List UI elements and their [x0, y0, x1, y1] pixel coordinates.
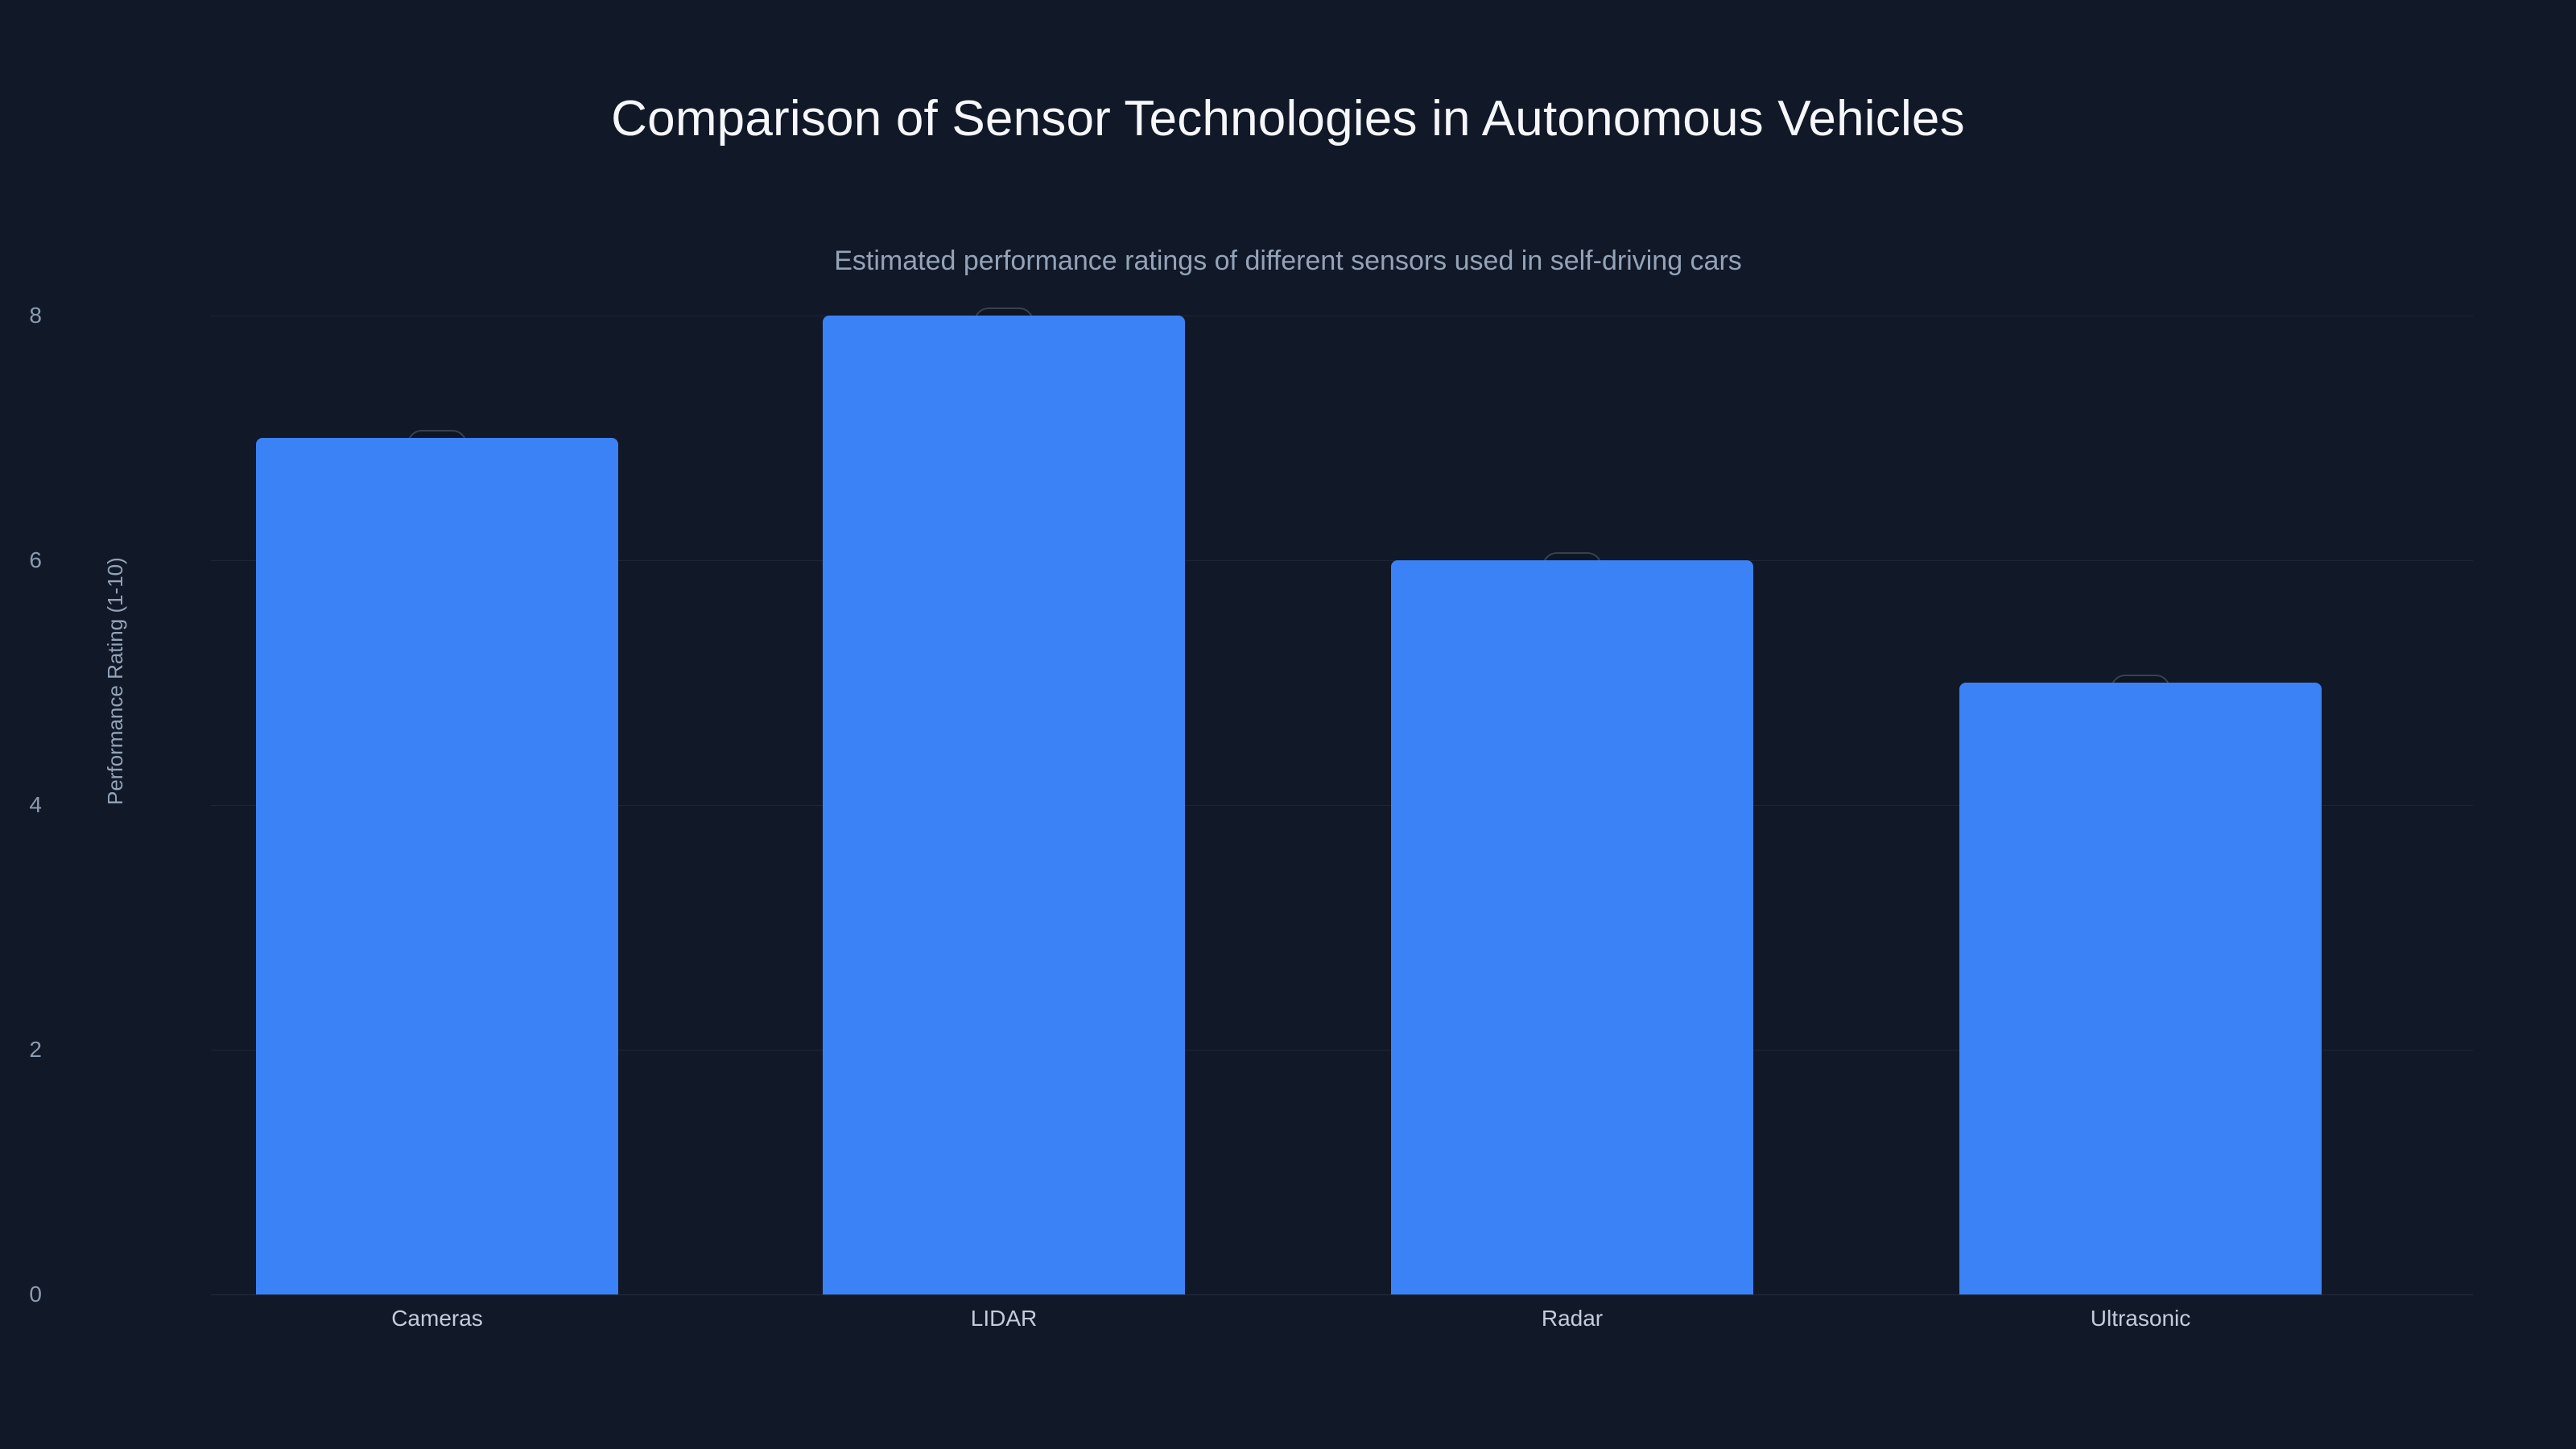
bar-rect-cameras[interactable]	[256, 438, 618, 1294]
y-axis-title: Performance Rating (1-10)	[103, 557, 128, 805]
y-tick-label-6: 6	[0, 547, 42, 573]
bar-group-cameras[interactable]: 7 Cameras	[256, 316, 618, 1294]
bar-chart-figure: Comparison of Sensor Technologies in Aut…	[0, 0, 2576, 1449]
x-tick-label-ultrasonic: Ultrasonic	[2091, 1306, 2190, 1331]
x-tick-label-cameras: Cameras	[391, 1306, 483, 1331]
chart-subtitle: Estimated performance ratings of differe…	[0, 246, 2576, 277]
x-tick-label-lidar: LIDAR	[971, 1306, 1037, 1331]
y-tick-label-2: 2	[0, 1037, 42, 1063]
bar-group-lidar[interactable]: 8 LIDAR	[823, 316, 1185, 1294]
y-tick-label-0: 0	[0, 1282, 42, 1307]
bars-layer: 7 Cameras 8 LIDAR 6 Radar 5 Ultrasonic	[211, 316, 2473, 1294]
bar-group-ultrasonic[interactable]: 5 Ultrasonic	[1959, 316, 2322, 1294]
y-tick-label-4: 4	[0, 792, 42, 818]
bar-group-radar[interactable]: 6 Radar	[1391, 316, 1753, 1294]
x-tick-label-radar: Radar	[1542, 1306, 1603, 1331]
bar-rect-lidar[interactable]	[823, 316, 1185, 1294]
chart-title: Comparison of Sensor Technologies in Aut…	[0, 90, 2576, 147]
y-tick-label-8: 8	[0, 303, 42, 328]
bar-rect-ultrasonic[interactable]	[1959, 683, 2322, 1294]
bar-rect-radar[interactable]	[1391, 560, 1753, 1294]
gridline-0	[211, 1294, 2473, 1295]
